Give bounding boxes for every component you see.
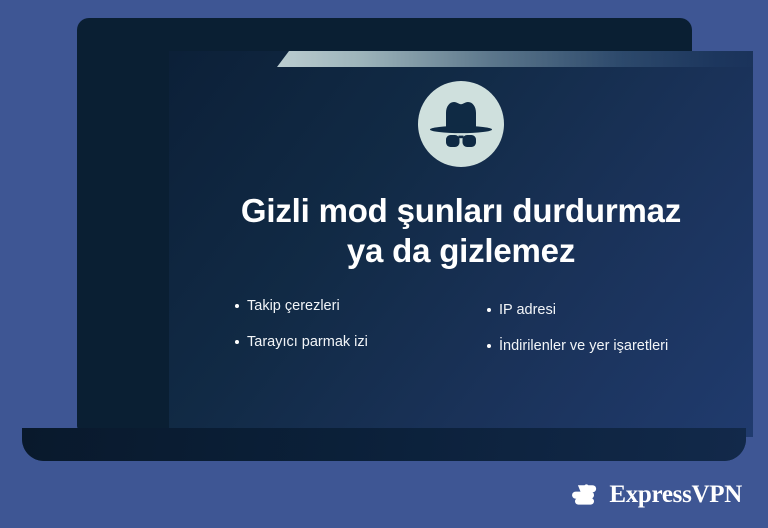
laptop-lid: Gizli mod şunları durdurmaz ya da gizlem… bbox=[77, 18, 692, 430]
expressvpn-logo: ExpressVPN bbox=[569, 479, 742, 510]
list-item-label: Tarayıcı parmak izi bbox=[247, 333, 368, 352]
bullet-dot-icon bbox=[235, 304, 239, 308]
bullet-column-left: Takip çerezleri Tarayıcı parmak izi bbox=[235, 297, 435, 373]
list-item-label: İndirilenler ve yer işaretleri bbox=[499, 337, 668, 356]
list-item: IP adresi bbox=[487, 301, 687, 320]
bullet-dot-icon bbox=[487, 308, 491, 312]
list-item-label: Takip çerezleri bbox=[247, 297, 340, 316]
incognito-hat-glasses-icon bbox=[418, 81, 504, 167]
page-title-line-2: ya da gizlemez bbox=[181, 231, 741, 271]
page-title-line-1: Gizli mod şunları durdurmaz bbox=[181, 191, 741, 231]
list-item-label: IP adresi bbox=[499, 301, 556, 320]
expressvpn-e-mark-icon bbox=[569, 479, 600, 510]
laptop-base-surface bbox=[22, 428, 746, 461]
bullet-dot-icon bbox=[487, 344, 491, 348]
brand-wordmark: ExpressVPN bbox=[609, 482, 742, 507]
list-item: Takip çerezleri bbox=[235, 297, 435, 316]
list-item: İndirilenler ve yer işaretleri bbox=[487, 337, 687, 356]
page-title: Gizli mod şunları durdurmaz ya da gizlem… bbox=[181, 191, 741, 271]
bullet-columns: Takip çerezleri Tarayıcı parmak izi IP a… bbox=[211, 297, 711, 373]
list-item: Tarayıcı parmak izi bbox=[235, 333, 435, 352]
slide-scene: Gizli mod şunları durdurmaz ya da gizlem… bbox=[0, 0, 768, 528]
bullet-column-right: IP adresi İndirilenler ve yer işaretleri bbox=[487, 297, 687, 373]
laptop-screen: Gizli mod şunları durdurmaz ya da gizlem… bbox=[169, 51, 753, 437]
laptop-base bbox=[22, 428, 746, 461]
slide-content: Gizli mod şunları durdurmaz ya da gizlem… bbox=[169, 51, 753, 437]
bullet-dot-icon bbox=[235, 340, 239, 344]
